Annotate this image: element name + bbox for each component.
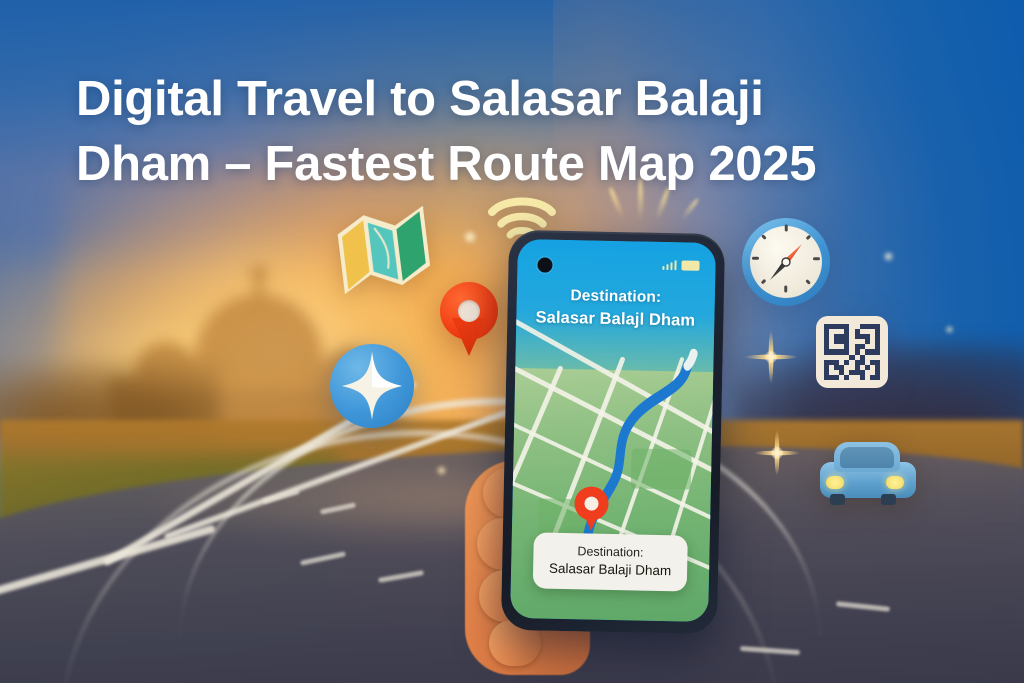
smartphone[interactable]: Destination: Salasar Balajl Dham Destina… [501,230,725,634]
map-pin-icon[interactable] [440,282,498,356]
phone-screen[interactable]: Destination: Salasar Balajl Dham Destina… [510,239,716,622]
page-title-line1: Digital Travel to Salasar Balaji [76,67,956,133]
navigation-star-icon[interactable] [330,344,414,428]
screen-heading-line1: Destination: [570,287,661,306]
light-speck [884,252,893,261]
qr-code-modules [824,324,880,380]
sparkle-icon [744,330,798,384]
screen-destination-pin[interactable] [574,486,609,531]
destination-card-line2: Salasar Balaji Dham [539,560,681,582]
light-speck [946,326,953,333]
page-title: Digital Travel to Salasar Balaji Dham – … [76,67,956,198]
car-wheel-right [881,494,896,505]
car-wheel-left [830,494,845,505]
signal-bars-icon [662,260,677,270]
sparkle-icon [754,430,800,476]
qr-code-icon[interactable] [816,316,888,388]
car-icon[interactable] [818,440,918,506]
car-headlight-left [826,476,844,489]
folded-map-icon[interactable] [331,201,437,300]
page-title-line2: Dham – Fastest Route Map 2025 [76,132,956,198]
battery-icon [681,260,699,270]
screen-destination-heading: Destination: Salasar Balajl Dham [516,285,715,333]
light-speck [437,466,446,475]
light-speck [464,231,476,243]
hero-banner: Destination: Salasar Balajl Dham Destina… [0,0,1024,683]
compass-icon[interactable] [742,218,830,306]
destination-card[interactable]: Destination: Salasar Balaji Dham [533,532,688,591]
status-bar [662,260,700,271]
screen-heading-line2: Salasar Balajl Dham [516,307,714,333]
car-headlight-right [886,476,904,489]
